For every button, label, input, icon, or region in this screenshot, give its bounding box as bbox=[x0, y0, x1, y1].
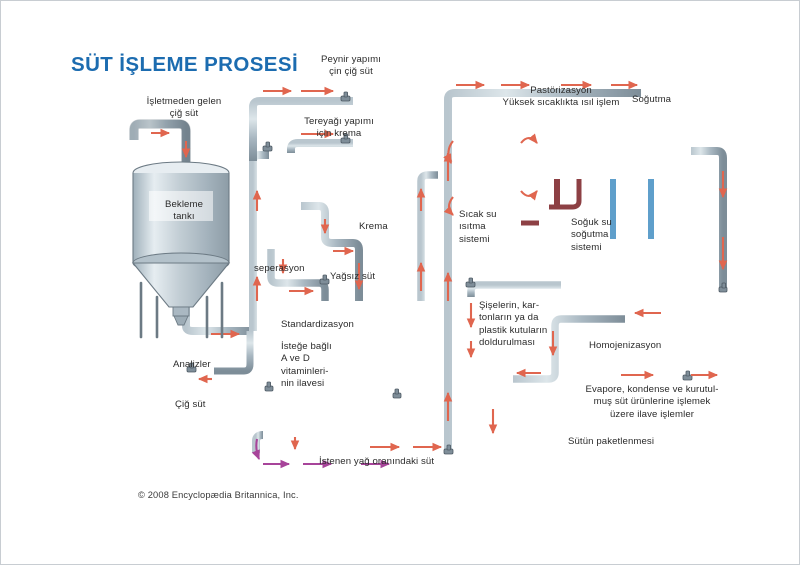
page-title: SÜT İŞLEME PROSESİ bbox=[71, 53, 298, 77]
label-vitamin: İsteğe bağlı A ve D vitaminleri- nin ila… bbox=[281, 341, 359, 391]
label-siseler: Şişelerin, kar- tonların ya da plastik k… bbox=[479, 300, 579, 350]
label-tereyagi: Tereyağı yapımı için krema bbox=[284, 116, 394, 141]
label-istenen: İstenen yağ oranındaki süt bbox=[319, 456, 469, 468]
label-standardizasyon: Standardizasyon bbox=[281, 319, 381, 331]
label-cigsut: Çiğ süt bbox=[175, 399, 221, 411]
label-pastorizasyon: Pastörizasyon Yüksek sıcaklıkta ısıl işl… bbox=[461, 85, 661, 110]
label-analizler: Analizler bbox=[173, 359, 227, 371]
label-evapore: Evapore, kondense ve kurutul- muş süt ür… bbox=[561, 384, 743, 421]
label-sogutma: Soğutma bbox=[632, 94, 692, 106]
label-yagsiz: Yağsız süt bbox=[330, 271, 392, 283]
label-peynir: Peynir yapımı çin çiğ süt bbox=[301, 54, 401, 79]
label-homojenizasyon: Homojenizasyon bbox=[589, 340, 689, 352]
diagram-page: SÜT İŞLEME PROSESİ © 2008 Encyclopædia B… bbox=[0, 0, 800, 565]
label-sicaksu: Sıcak su ısıtma sistemi bbox=[459, 209, 513, 246]
holding-tank bbox=[133, 162, 229, 337]
label-sutun: Sütün paketlenmesi bbox=[568, 436, 688, 448]
label-soguksu: Soğuk su soğutma sistemi bbox=[571, 217, 629, 254]
label-seperasyon: seperasyon bbox=[254, 263, 324, 275]
label-krema: Krema bbox=[359, 221, 405, 233]
copyright-notice: © 2008 Encyclopædia Britannica, Inc. bbox=[138, 490, 299, 500]
label-isletmeden: İşletmeden gelen çiğ süt bbox=[129, 96, 239, 121]
process-diagram bbox=[1, 1, 800, 565]
label-bekleme: Bekleme tankı bbox=[153, 199, 215, 224]
